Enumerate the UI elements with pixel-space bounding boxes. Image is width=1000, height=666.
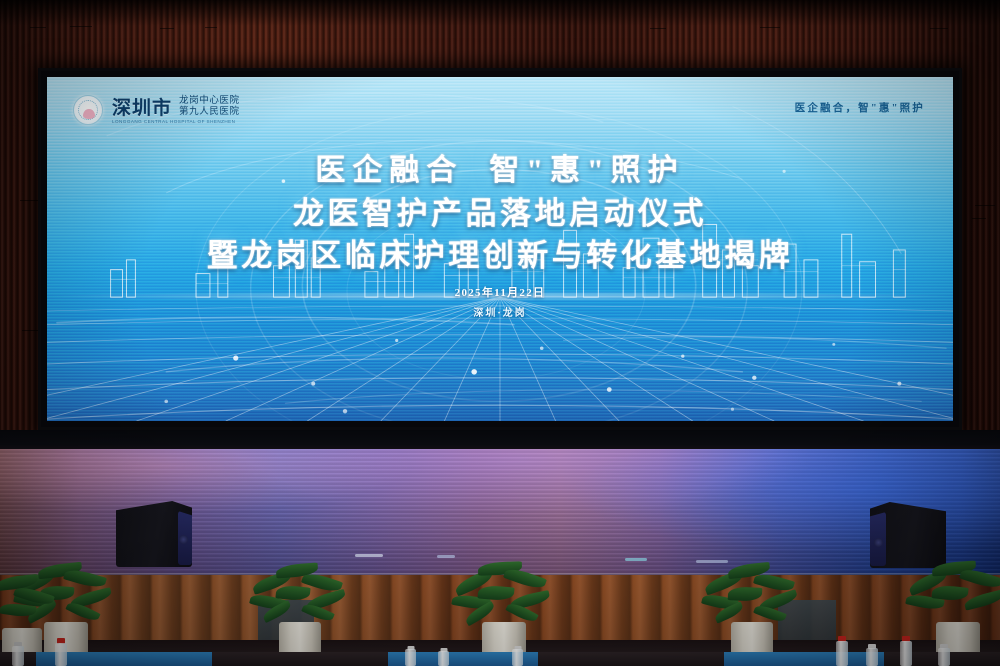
bottle-body <box>55 643 67 666</box>
bottle-body <box>512 649 523 666</box>
potted-aglaonema-plant <box>248 562 352 660</box>
plant-leaf <box>477 584 514 601</box>
water-bottle <box>512 646 523 666</box>
water-bottle <box>866 644 878 666</box>
event-headline-block: 医企融合智"惠"照护 龙医智护产品落地启动仪式 暨龙岗区临床护理创新与转化基地揭… <box>47 155 953 319</box>
wall-seam-mark <box>760 27 780 28</box>
table-cloth-blue <box>724 652 884 666</box>
wall-seam-mark <box>650 28 666 29</box>
water-bottle <box>55 638 67 666</box>
event-meta-block: 2025年11月22日 深圳·龙岗 <box>47 284 953 319</box>
wall-seam-mark <box>70 26 92 27</box>
potted-aglaonema-plant <box>452 560 556 660</box>
potted-aglaonema-plant <box>906 558 1000 660</box>
water-bottle <box>438 648 449 666</box>
wall-seam-mark <box>160 28 174 29</box>
potted-aglaonema-plant <box>0 570 56 662</box>
water-bottle <box>836 636 848 666</box>
wall-top-shadow <box>0 0 1000 26</box>
speaker-driver-icon <box>874 538 883 547</box>
speaker-driver-icon <box>179 535 188 544</box>
floor-cable-marker <box>437 555 455 558</box>
wall-seam-mark <box>22 330 38 331</box>
brand-hospital-line1: 龙岗中心医院 <box>179 96 240 107</box>
bottle-body <box>12 646 24 666</box>
brand-city-name: 深圳市 <box>112 99 172 118</box>
water-bottle <box>405 646 416 666</box>
bottle-body <box>836 641 848 666</box>
event-date: 2025年11月22日 <box>47 284 953 300</box>
headline-line-2: 龙医智护产品落地启动仪式 <box>47 197 953 230</box>
bottle-body <box>405 649 416 666</box>
headline-line-1-part-2: 智"惠"照护 <box>489 154 684 187</box>
wall-seam-mark <box>20 200 38 201</box>
plant-leaf <box>963 589 1000 610</box>
wall-seam-mark <box>930 28 948 29</box>
floor-cable-marker <box>625 558 647 561</box>
wall-seam-mark <box>30 27 46 28</box>
bottle-body <box>938 648 950 666</box>
bottle-body <box>866 648 878 666</box>
potted-aglaonema-plant <box>700 562 804 660</box>
headline-line-1-part-1: 医企融合 <box>315 154 463 187</box>
hospital-emblem-icon <box>73 95 103 125</box>
headline-line-3: 暨龙岗区临床护理创新与转化基地揭牌 <box>47 239 953 272</box>
floor-cable-marker <box>355 554 383 557</box>
screen-tagline: 医企融合，智"惠"照护 <box>795 100 925 115</box>
hospital-brand-lockup: 深圳市 龙岗中心医院 第九人民医院 LONGGANG CENTRAL HOSPI… <box>73 95 240 125</box>
plant-leaf <box>728 586 763 602</box>
event-place: 深圳·龙岗 <box>47 304 953 319</box>
wall-seam-mark <box>205 27 217 28</box>
plant-leaf <box>0 602 37 619</box>
bottle-body <box>900 641 912 666</box>
wall-seam-mark <box>972 218 986 219</box>
water-bottle <box>938 644 950 666</box>
wall-seam-mark <box>975 205 995 206</box>
conference-hall-photo: 深圳市 龙岗中心医院 第九人民医院 LONGGANG CENTRAL HOSPI… <box>0 0 1000 666</box>
led-display-bezel: 深圳市 龙岗中心医院 第九人民医院 LONGGANG CENTRAL HOSPI… <box>38 68 962 430</box>
brand-hospital-line2: 第九人民医院 <box>179 107 240 118</box>
stage-monitor-speaker-left <box>116 501 192 567</box>
water-bottle <box>12 642 24 666</box>
water-bottle <box>900 636 912 666</box>
headline-line-1: 医企融合智"惠"照护 <box>47 155 953 187</box>
led-display-screen: 深圳市 龙岗中心医院 第九人民医院 LONGGANG CENTRAL HOSPI… <box>47 77 953 421</box>
brand-english-name: LONGGANG CENTRAL HOSPITAL OF SHENZHEN <box>112 119 240 124</box>
bottle-body <box>438 651 449 666</box>
